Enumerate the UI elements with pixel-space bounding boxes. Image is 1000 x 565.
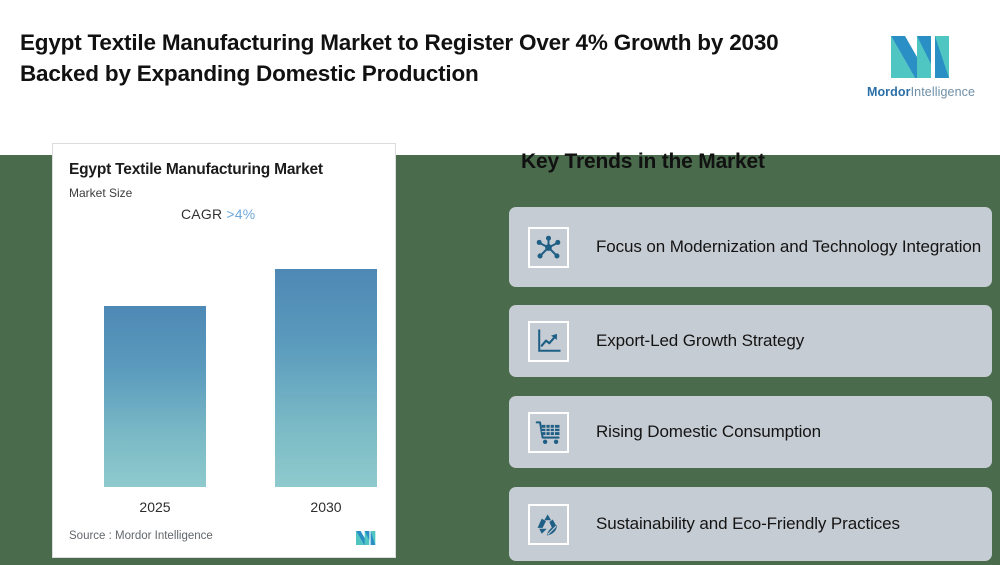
brand-logo-card: MordorIntelligence bbox=[853, 2, 989, 120]
brand-word-mordor: Mordor bbox=[867, 85, 911, 99]
bar-2030 bbox=[275, 269, 377, 487]
cagr-label: CAGR bbox=[181, 206, 222, 222]
chart-title: Egypt Textile Manufacturing Market bbox=[69, 161, 323, 179]
bar-label-2030: 2030 bbox=[275, 499, 377, 515]
trend-label: Sustainability and Eco-Friendly Practice… bbox=[596, 511, 900, 537]
mordor-m-logo-icon bbox=[889, 24, 953, 78]
network-hub-icon bbox=[528, 227, 569, 268]
trend-card-domestic-consumption[interactable]: Rising Domestic Consumption bbox=[509, 396, 992, 468]
chart-source-text: Source : Mordor Intelligence bbox=[69, 530, 213, 542]
market-size-chart-card: Egypt Textile Manufacturing Market Marke… bbox=[52, 143, 396, 558]
recycle-leaf-icon bbox=[528, 504, 569, 545]
trend-label: Export-Led Growth Strategy bbox=[596, 328, 804, 354]
cagr-value: >4% bbox=[226, 206, 255, 222]
trend-card-modernization[interactable]: Focus on Modernization and Technology In… bbox=[509, 207, 992, 287]
chart-subtitle: Market Size bbox=[69, 186, 132, 200]
cagr-annotation: CAGR >4% bbox=[181, 206, 255, 222]
brand-wordmark: MordorIntelligence bbox=[867, 85, 975, 99]
page-title: Egypt Textile Manufacturing Market to Re… bbox=[20, 28, 840, 90]
shopping-cart-icon bbox=[528, 412, 569, 453]
bar-label-2025: 2025 bbox=[104, 499, 206, 515]
brand-word-intelligence: Intelligence bbox=[911, 85, 975, 99]
chart-source-row: Source : Mordor Intelligence bbox=[69, 527, 381, 545]
trend-card-export-growth[interactable]: Export-Led Growth Strategy bbox=[509, 305, 992, 377]
trend-label: Focus on Modernization and Technology In… bbox=[596, 234, 981, 260]
trend-label: Rising Domestic Consumption bbox=[596, 419, 821, 445]
bar-2025 bbox=[104, 306, 206, 487]
chart-growth-icon bbox=[528, 321, 569, 362]
trend-card-sustainability[interactable]: Sustainability and Eco-Friendly Practice… bbox=[509, 487, 992, 561]
mordor-m-logo-small-icon bbox=[351, 527, 381, 545]
key-trends-heading: Key Trends in the Market bbox=[521, 150, 765, 174]
